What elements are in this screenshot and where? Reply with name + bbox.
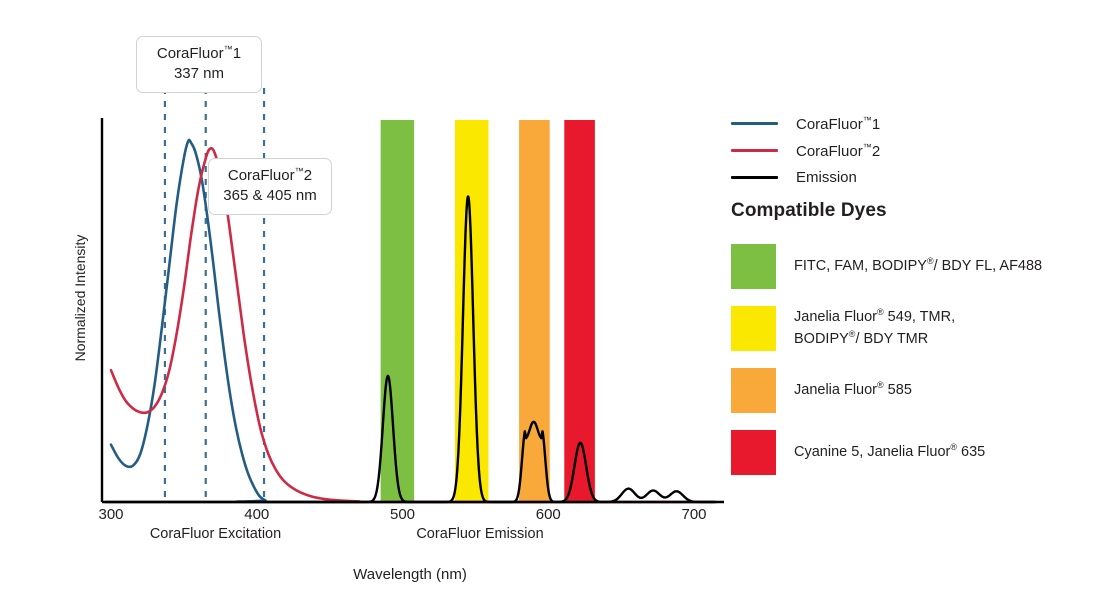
- legend-line-swatch-coraflour-2: [731, 149, 778, 152]
- x-tick-400: 400: [227, 506, 287, 523]
- dye-color-swatch: [731, 244, 776, 289]
- x-tick-300: 300: [81, 506, 141, 523]
- yellow-band: [455, 120, 489, 502]
- legend-label-coraflour-1: CoraFluor™1: [796, 115, 880, 133]
- dye-label: Janelia Fluor® 549, TMR, BODIPY®/ BDY TM…: [794, 307, 955, 350]
- x-section-emission: CoraFluor Emission: [400, 526, 560, 542]
- legend-label-coraflour-2: CoraFluor™2: [796, 142, 880, 160]
- green-band: [381, 120, 415, 502]
- y-axis-title: Normalized Intensity: [72, 198, 88, 398]
- x-axis-title: Wavelength (nm): [250, 566, 570, 583]
- dye-label: Janelia Fluor® 585: [794, 379, 912, 400]
- dye-label: Cyanine 5, Janelia Fluor® 635: [794, 441, 985, 462]
- callout-coraflour-2: CoraFluor™2 365 & 405 nm: [208, 158, 332, 215]
- callout-coraflour-1: CoraFluor™1 337 nm: [136, 36, 262, 93]
- x-tick-600: 600: [518, 506, 578, 523]
- dye-label: FITC, FAM, BODIPY®/ BDY FL, AF488: [794, 255, 1042, 276]
- callout-1-line-1: CoraFluor™1: [149, 44, 249, 64]
- callout-2-line-1: CoraFluor™2: [221, 166, 319, 186]
- dye-row[interactable]: Janelia Fluor® 549, TMR, BODIPY®/ BDY TM…: [731, 297, 1106, 359]
- legend-item-coraflour-2[interactable]: CoraFluor™2: [731, 137, 1101, 164]
- callout-2-line-2: 365 & 405 nm: [221, 186, 319, 206]
- x-tick-500: 500: [373, 506, 433, 523]
- dye-row[interactable]: Cyanine 5, Janelia Fluor® 635: [731, 421, 1106, 483]
- x-section-excitation: CoraFluor Excitation: [128, 526, 303, 542]
- dye-row[interactable]: Janelia Fluor® 585: [731, 359, 1106, 421]
- x-tick-700: 700: [664, 506, 724, 523]
- dye-color-swatch: [731, 306, 776, 351]
- spectra-figure: CoraFluor™1 337 nm CoraFluor™2 365 & 405…: [0, 0, 1110, 612]
- compatible-dyes-heading: Compatible Dyes: [731, 200, 887, 222]
- legend-line-swatch-coraflour-1: [731, 122, 778, 125]
- legend-label-emission: Emission: [796, 169, 857, 186]
- compatible-dyes-list: FITC, FAM, BODIPY®/ BDY FL, AF488 Janeli…: [731, 235, 1106, 483]
- series-legend: CoraFluor™1 CoraFluor™2 Emission: [731, 110, 1101, 191]
- legend-line-swatch-emission: [731, 176, 778, 179]
- dye-color-swatch: [731, 430, 776, 475]
- legend-item-emission[interactable]: Emission: [731, 164, 1101, 191]
- legend-item-coraflour-1[interactable]: CoraFluor™1: [731, 110, 1101, 137]
- dye-row[interactable]: FITC, FAM, BODIPY®/ BDY FL, AF488: [731, 235, 1106, 297]
- callout-1-line-2: 337 nm: [149, 64, 249, 84]
- dye-color-swatch: [731, 368, 776, 413]
